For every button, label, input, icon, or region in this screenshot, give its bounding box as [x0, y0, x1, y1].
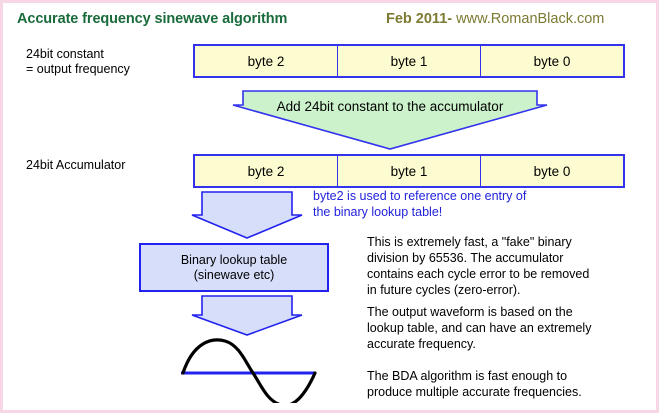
- lookup-to-waveform-arrow: [189, 293, 305, 338]
- byline-date: Feb 2011: [386, 11, 447, 27]
- byte-cell: byte 0: [481, 46, 623, 76]
- sinewave-curve: [183, 340, 315, 403]
- arrow-shape: [192, 192, 302, 238]
- arrow-shape: [192, 296, 302, 335]
- output-sinewave: [173, 333, 333, 403]
- byte-cell: byte 2: [195, 46, 338, 76]
- add-arrow-label: Add 24bit constant to the accumulator: [277, 99, 504, 114]
- label-24bit-constant: 24bit constant = output frequency: [26, 47, 130, 77]
- blue-annotation-note: byte2 is used to reference one entry of …: [313, 189, 526, 220]
- paragraph-output-waveform: The output waveform is based on the look…: [367, 304, 657, 352]
- byte-cell: byte 1: [338, 156, 481, 186]
- byte2-to-lookup-arrow: [189, 189, 305, 241]
- byline-site: www.RomanBlack.com: [456, 11, 604, 27]
- paragraph-bda-algorithm: The BDA algorithm is fast enough to prod…: [367, 368, 657, 400]
- lookup-table-line2: (sinewave etc): [194, 268, 275, 283]
- label-24bit-accumulator: 24bit Accumulator: [26, 158, 125, 173]
- arrow-shape: [233, 91, 547, 149]
- byline: Feb 2011- www.RomanBlack.com: [386, 11, 604, 27]
- byte-cell: byte 0: [481, 156, 623, 186]
- binary-lookup-table-box: Binary lookup table (sinewave etc): [139, 243, 329, 292]
- diagram-canvas: Accurate frequency sinewave algorithm Fe…: [0, 0, 659, 413]
- byte-row-constant: byte 2 byte 1 byte 0: [193, 44, 625, 78]
- lookup-table-line1: Binary lookup table: [181, 253, 287, 268]
- paragraph-fast-division: This is extremely fast, a "fake" binary …: [367, 234, 657, 298]
- add-constant-arrow: Add 24bit constant to the accumulator: [225, 87, 555, 153]
- byline-separator: -: [447, 11, 456, 27]
- byte-row-accumulator: byte 2 byte 1 byte 0: [193, 154, 625, 188]
- page-title: Accurate frequency sinewave algorithm: [17, 11, 287, 27]
- byte-cell: byte 2: [195, 156, 338, 186]
- byte-cell: byte 1: [338, 46, 481, 76]
